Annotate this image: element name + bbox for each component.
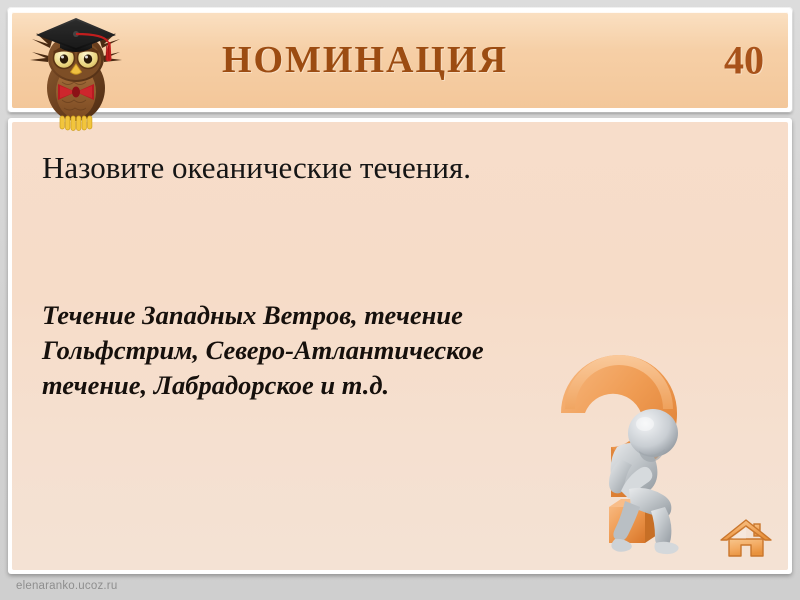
question-text: Назовите океанические течения. [42, 150, 748, 187]
answer-line: течение, Лабрадорское и т.д. [42, 368, 602, 403]
header-panel: НОМИНАЦИЯ 40 [12, 12, 788, 108]
header-bar: НОМИНАЦИЯ 40 [8, 8, 792, 112]
answer-line: Течение Западных Ветров, течение [42, 298, 602, 333]
slide-canvas: НОМИНАЦИЯ 40 [0, 0, 800, 600]
watermark: elenaranko.ucoz.ru [16, 580, 117, 592]
answer-text: Течение Западных Ветров, течение Гольфст… [42, 298, 602, 404]
home-icon[interactable] [718, 514, 774, 560]
page-title: НОМИНАЦИЯ [12, 38, 788, 82]
answer-line: Гольфстрим, Северо-Атлантическое [42, 333, 602, 368]
content-panel-frame: Назовите океанические течения. Течение З… [8, 118, 792, 574]
points-value: 40 [724, 37, 764, 84]
content-panel: Назовите океанические течения. Течение З… [12, 122, 788, 570]
